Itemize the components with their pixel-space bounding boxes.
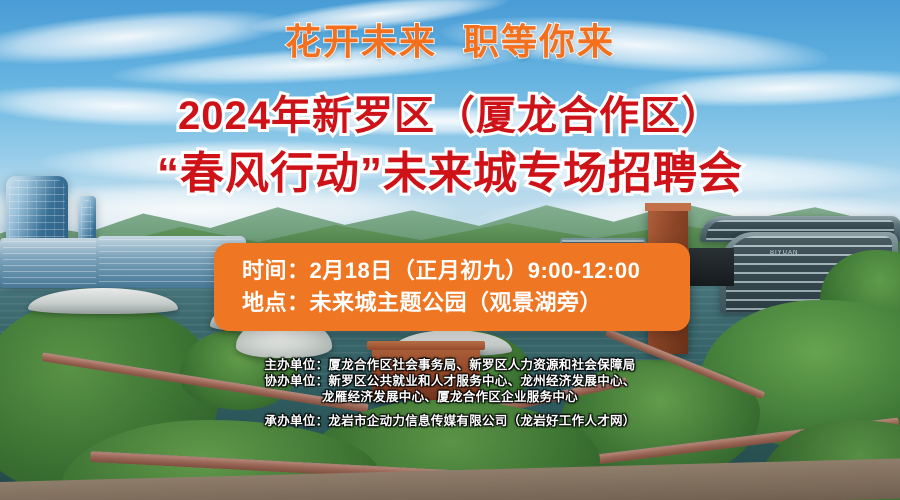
event-info-box: 时间：2月18日（正月初九）9:00-12:00 地点：未来城主题公园（观景湖旁… [214, 243, 690, 331]
recruitment-poster: BIYUAN 花开未来 [0, 0, 900, 500]
event-time-line: 时间：2月18日（正月初九）9:00-12:00 [242, 255, 690, 287]
poster-content: 花开未来职等你来 2024年新罗区（厦龙合作区） “春风行动”未来城专场招聘会 … [0, 0, 900, 500]
credit-line-co-host-1: 协办单位：新罗区公共就业和人才服务中心、龙州经济发展中心、 [0, 373, 900, 389]
credit-line-co-host-2: 龙雁经济发展中心、厦龙合作区企业服务中心 [0, 389, 900, 405]
event-place-line: 地点：未来城主题公园（观景湖旁） [242, 287, 690, 319]
organizer-credits: 主办单位：厦龙合作区社会事务局、新罗区人力资源和社会保障局 协办单位：新罗区公共… [0, 357, 900, 429]
headline-part-2: 职等你来 [463, 21, 615, 62]
credit-line-organizer: 承办单位：龙岩市企动力信息传媒有限公司（龙岩好工作人才网） [0, 413, 900, 429]
poster-title-line-2: “春风行动”未来城专场招聘会 [0, 152, 900, 196]
poster-title-line-1: 2024年新罗区（厦龙合作区） [0, 96, 900, 136]
credit-line-host: 主办单位：厦龙合作区社会事务局、新罗区人力资源和社会保障局 [0, 357, 900, 373]
poster-headline: 花开未来职等你来 [0, 24, 900, 60]
headline-part-1: 花开未来 [285, 21, 437, 62]
